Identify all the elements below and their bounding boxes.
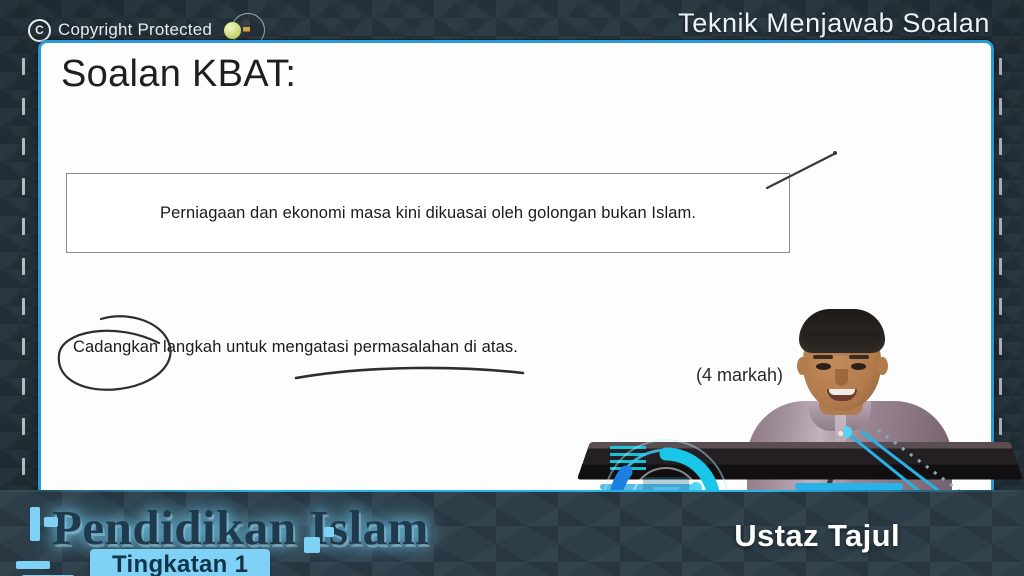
left-dashed-rail [22,58,25,528]
presenter-ear [877,357,888,375]
brand-subject-title: Pendidikan Islam [52,503,429,552]
slide-stage: C Copyright Protected Teknik Menjawab So… [0,0,1024,576]
header-title: Teknik Menjawab Soalan [678,8,990,39]
question-box-text: Perniagaan dan ekonomi masa kini dikuasa… [160,204,696,223]
presenter-eyebrow [813,355,833,359]
presenter-name-label: Ustaz Tajul [734,518,900,554]
question-box: Perniagaan dan ekonomi masa kini dikuasa… [66,173,790,253]
presenter-eye [816,363,831,370]
presenter-nose [835,369,848,386]
presenter-eye [851,363,866,370]
brand-level-badge: Tingkatan 1 [90,549,270,576]
copyright-icon: C [28,19,51,42]
presenter-ear [797,357,808,375]
slide-heading: Soalan KBAT: [61,53,296,96]
instruction-text: Cadangkan langkah untuk mengatasi permas… [73,338,518,357]
presenter-hair [799,309,885,353]
presenter-eyebrow [849,355,869,359]
copyright-label: Copyright Protected [58,20,212,40]
brand-block: Pendidikan Islam Tingkatan 1 [52,503,429,552]
presenter-button [838,431,843,436]
ink-pointer-dot [833,151,837,155]
ink-underline-annotation [296,368,523,378]
